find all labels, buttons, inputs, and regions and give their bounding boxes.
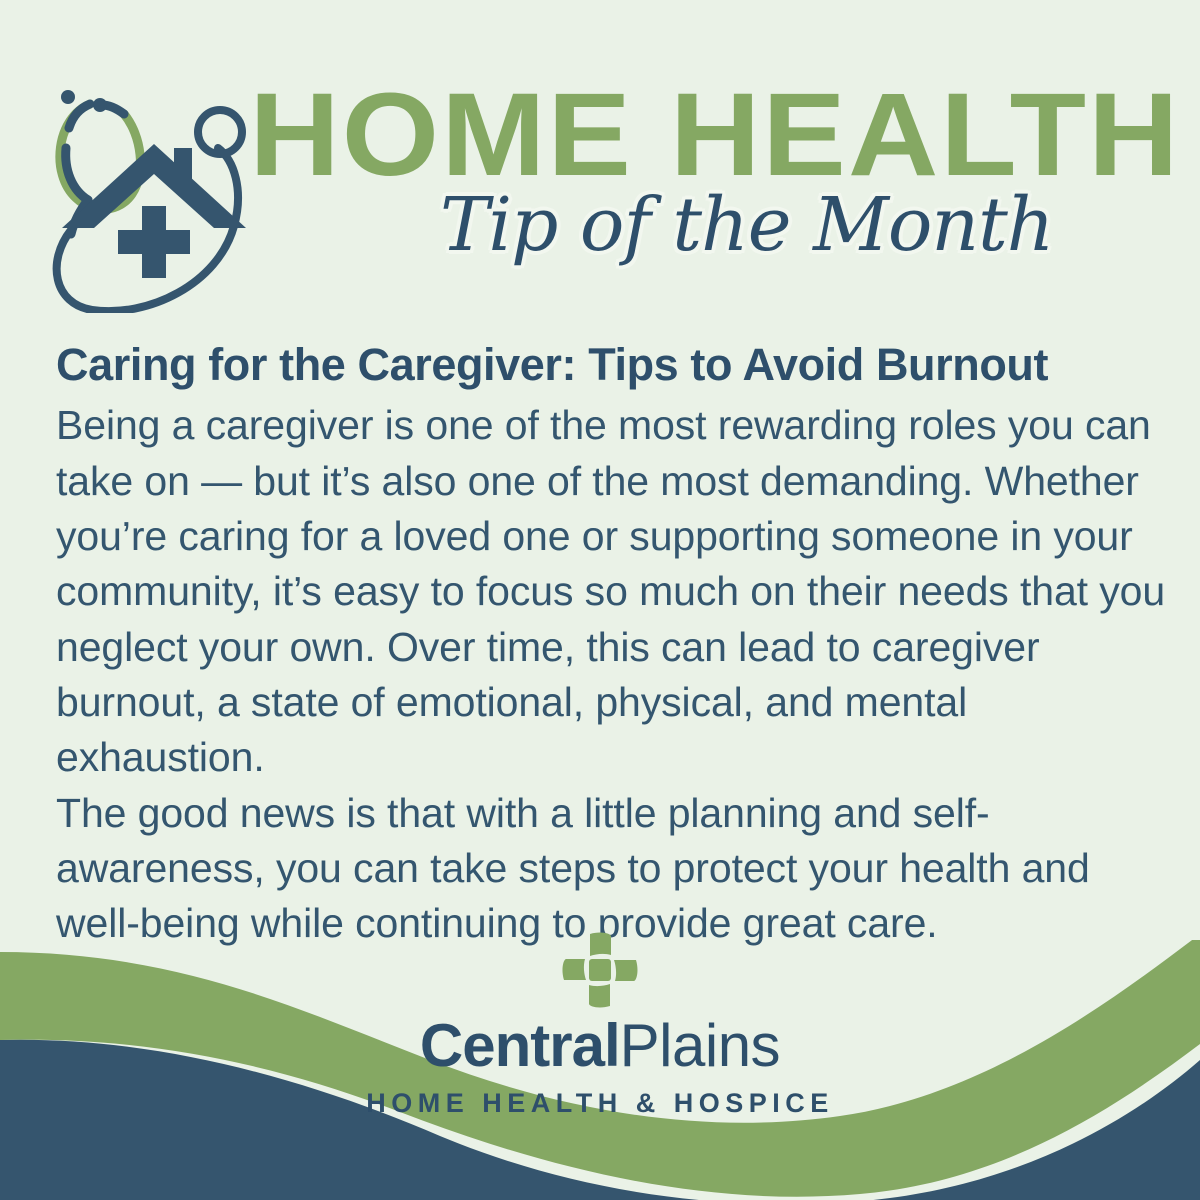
script-subtitle: Tip of the Month bbox=[440, 188, 1040, 262]
article-content: Caring for the Caregiver: Tips to Avoid … bbox=[56, 340, 1168, 952]
article-paragraph-1: Being a caregiver is one of the most rew… bbox=[56, 398, 1168, 785]
wordmark: CentralPlains bbox=[0, 1016, 1200, 1076]
wordmark-central: Central bbox=[420, 1012, 620, 1079]
company-tagline: HOME HEALTH & HOSPICE bbox=[0, 1088, 1200, 1119]
poster-header: HOME HEALTH Tip of the Month bbox=[0, 0, 1200, 330]
poster-canvas: HOME HEALTH Tip of the Month Caring for … bbox=[0, 0, 1200, 1200]
company-logo: CentralPlains HOME HEALTH & HOSPICE bbox=[0, 930, 1200, 1119]
wordmark-plains: Plains bbox=[620, 1012, 780, 1079]
article-paragraph-2: The good news is that with a little plan… bbox=[56, 786, 1168, 952]
page-title: HOME HEALTH bbox=[222, 76, 1200, 194]
pinwheel-cross-icon bbox=[560, 930, 640, 1010]
article-heading: Caring for the Caregiver: Tips to Avoid … bbox=[56, 340, 1168, 390]
title-block: HOME HEALTH Tip of the Month bbox=[250, 76, 1180, 326]
